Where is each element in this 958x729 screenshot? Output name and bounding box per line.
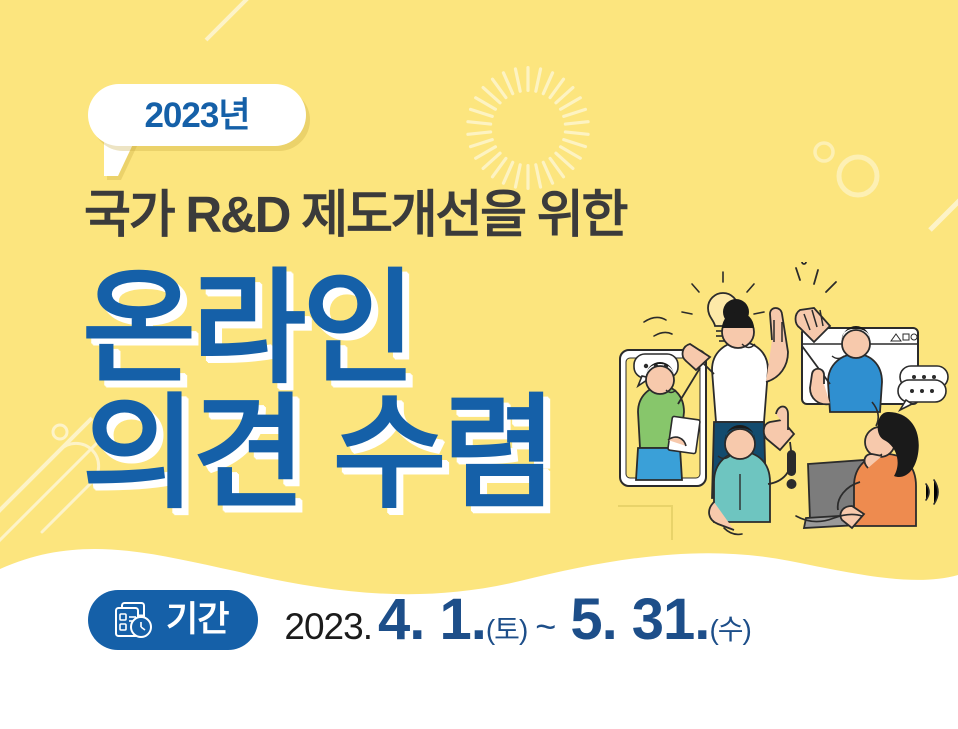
promotional-banner: 2023년 국가 R&D 제도개선을 위한 온라인 의견 수렴 xyxy=(0,0,958,729)
year-speech-bubble: 2023년 xyxy=(88,84,306,146)
period-row: 기간 2023. 4. 1. (토) ~ 5. 31. (수) xyxy=(88,586,751,653)
speech-bubble-tail xyxy=(104,142,134,176)
page-title: 온라인 의견 수렴 xyxy=(82,270,553,514)
period-pill-label: 기간 xyxy=(166,602,228,637)
period-separator: ~ xyxy=(535,606,556,648)
speech-bubble-dots-right-icon xyxy=(898,366,948,410)
period-end-date: 5. 31. xyxy=(570,586,709,653)
motion-lines-icon xyxy=(796,262,836,292)
period-pill: 기간 xyxy=(88,590,258,650)
period-end-weekday: (수) xyxy=(709,608,750,648)
title-line-1: 온라인 xyxy=(82,270,553,389)
subtitle: 국가 R&D 제도개선을 위한 xyxy=(84,186,626,243)
period-start-weekday: (토) xyxy=(486,608,527,648)
online-collaboration-illustration xyxy=(604,262,958,542)
clipboard-stopwatch-icon xyxy=(112,599,154,641)
title-line-2: 의견 수렴 xyxy=(82,395,553,514)
year-label: 2023년 xyxy=(144,98,249,133)
period-start-year: 2023. xyxy=(284,606,372,648)
period-start-date: 4. 1. xyxy=(378,586,486,653)
period-date-range: 2023. 4. 1. (토) ~ 5. 31. (수) xyxy=(284,586,750,653)
